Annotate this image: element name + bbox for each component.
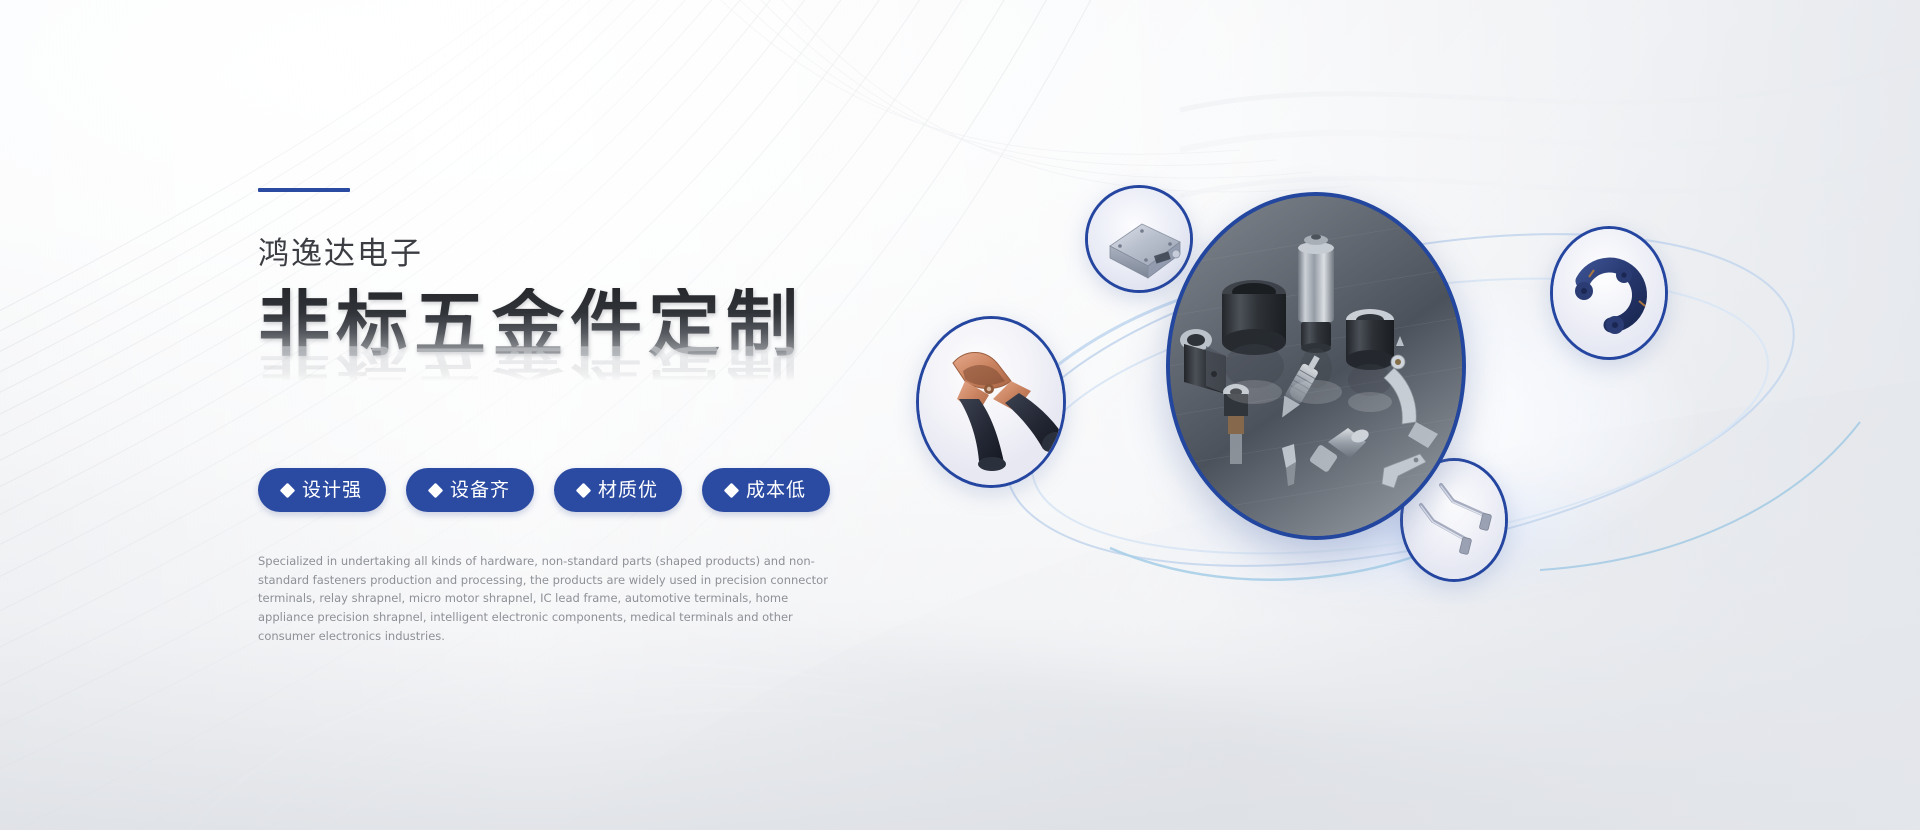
feature-badge-label: 成本低 bbox=[746, 481, 806, 500]
feature-badge-2[interactable]: 材质优 bbox=[554, 468, 682, 512]
diamond-icon bbox=[576, 482, 592, 498]
hero-copy: 鸿逸达电子 非标五金件定制 非标五金件定制 设计强 设备齐 材质优 成本低 bbox=[258, 0, 978, 830]
satellite-navy-c-bracket[interactable] bbox=[1550, 226, 1668, 360]
diamond-icon bbox=[280, 482, 296, 498]
page-title-reflection: 非标五金件定制 bbox=[258, 344, 804, 384]
feature-badge-0[interactable]: 设计强 bbox=[258, 468, 386, 512]
feature-badge-1[interactable]: 设备齐 bbox=[406, 468, 534, 512]
feature-badge-label: 设备齐 bbox=[450, 481, 510, 500]
feature-badge-list: 设计强 设备齐 材质优 成本低 bbox=[258, 468, 830, 512]
feature-badge-label: 设计强 bbox=[302, 481, 362, 500]
headline-block: 非标五金件定制 非标五金件定制 bbox=[258, 288, 958, 438]
main-product-photo[interactable] bbox=[1166, 192, 1466, 540]
copper-battery-clamp-icon bbox=[919, 319, 1063, 485]
feature-badge-label: 材质优 bbox=[598, 481, 658, 500]
product-visual bbox=[900, 130, 1920, 690]
diamond-icon bbox=[724, 482, 740, 498]
brand-name: 鸿逸达电子 bbox=[258, 228, 423, 273]
feature-badge-3[interactable]: 成本低 bbox=[702, 468, 830, 512]
description-paragraph: Specialized in undertaking all kinds of … bbox=[258, 552, 828, 645]
accent-rule bbox=[258, 188, 350, 192]
hero-banner: 鸿逸达电子 非标五金件定制 非标五金件定制 设计强 设备齐 材质优 成本低 bbox=[0, 0, 1920, 830]
diamond-icon bbox=[428, 482, 444, 498]
satellite-copper-battery-clamp[interactable] bbox=[916, 316, 1066, 488]
navy-c-bracket-icon bbox=[1553, 229, 1665, 357]
